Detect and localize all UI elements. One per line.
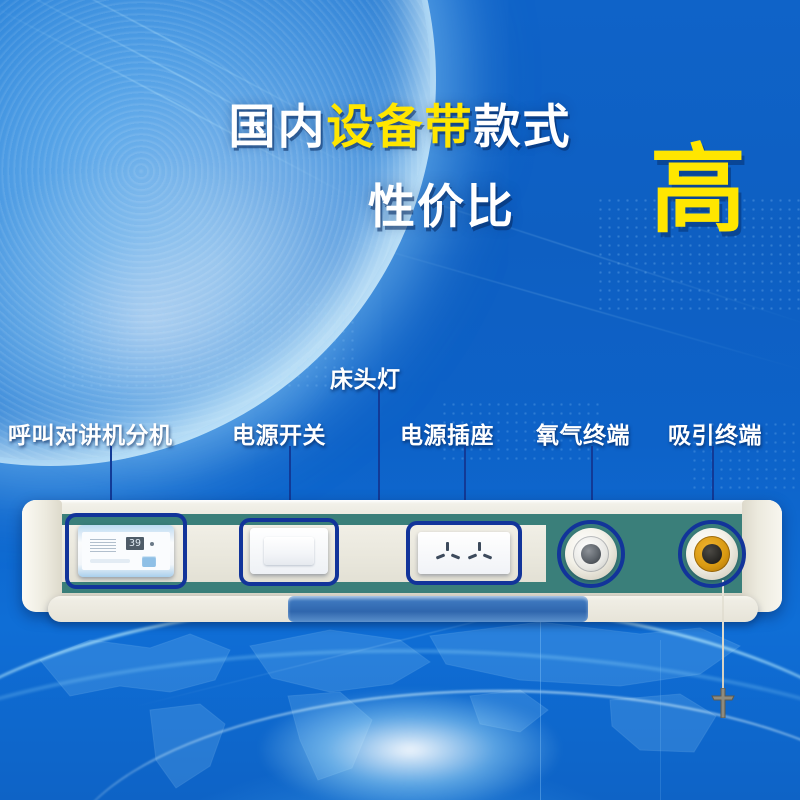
headline-part-1: 国内: [229, 100, 327, 155]
highlight-ring-oxygen: [557, 520, 625, 588]
poster-canvas: 国内设备带款式 性价比 高 呼叫对讲机分机 电源开关 床头灯 电源插座 氧气终端…: [0, 0, 800, 800]
panel-end-cap-right: [742, 500, 782, 612]
callout-label-socket: 电源插座: [400, 416, 494, 450]
horizon-glow: [260, 690, 560, 800]
callout-label-bedlamp: 床头灯: [330, 360, 401, 394]
pull-cord-handle-icon[interactable]: [710, 688, 736, 718]
callout-label-switch: 电源开关: [232, 416, 326, 450]
highlight-box-socket: [406, 521, 522, 585]
panel-rail-blue-insert: [288, 596, 588, 622]
panel-end-cap-left: [22, 500, 62, 612]
highlight-ring-suction: [678, 520, 746, 588]
headline-part-2: 设备带: [327, 100, 474, 155]
halftone-dots: [60, 300, 360, 390]
grid-line: [660, 640, 661, 800]
grid-line: [540, 620, 541, 800]
headline-emphasis: 高: [650, 142, 746, 238]
callout-label-suction: 吸引终端: [668, 416, 762, 450]
highlight-box-switch: [239, 518, 339, 586]
headline-part-3: 款式: [474, 100, 572, 155]
callout-label-intercom: 呼叫对讲机分机: [8, 416, 173, 450]
callout-label-oxygen: 氧气终端: [536, 416, 630, 450]
headline-line-2: 性价比: [368, 168, 515, 237]
highlight-box-intercom: [65, 513, 187, 589]
pull-cord[interactable]: [722, 580, 724, 702]
